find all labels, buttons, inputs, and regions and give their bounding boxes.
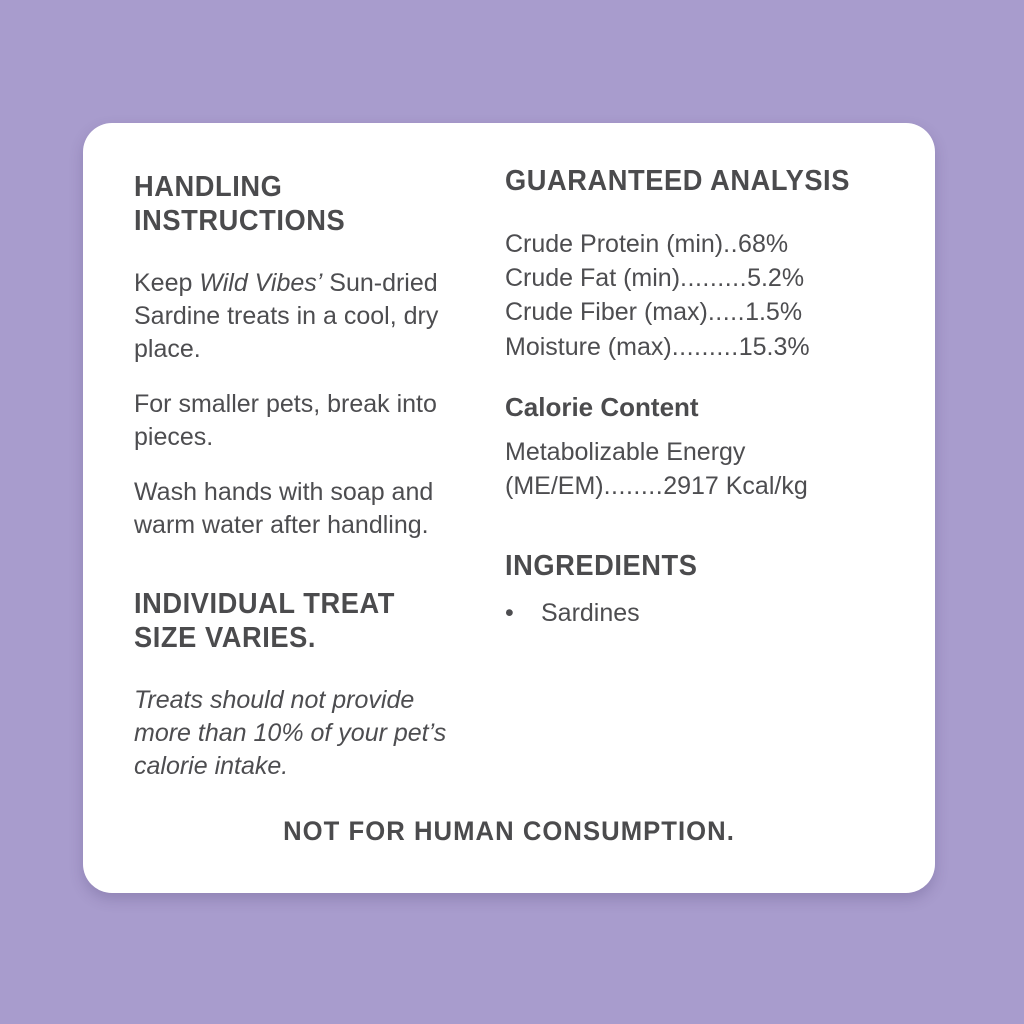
bullet-icon: •	[505, 596, 541, 631]
list-item: • Sardines	[505, 596, 933, 631]
calorie-line-value: (ME/EM)........2917 Kcal/kg	[505, 469, 933, 503]
spacer	[505, 364, 933, 392]
analysis-row: Crude Fiber (max).....1.5%	[505, 295, 933, 329]
analysis-leader: .........	[672, 333, 739, 361]
calorie-line-metabolizable-energy: Metabolizable Energy	[505, 435, 933, 469]
spacer	[134, 454, 463, 476]
spacer	[505, 504, 933, 550]
spacer	[505, 199, 933, 227]
calorie-value-leader: ........	[604, 472, 664, 500]
analysis-leader: ..	[723, 230, 738, 258]
analysis-value: 5.2%	[747, 264, 804, 292]
spacer	[505, 584, 933, 596]
spacer	[134, 366, 463, 388]
spacer	[134, 542, 463, 588]
treat-size-heading: Individual Treat Size Varies.	[134, 588, 443, 656]
analysis-row: Moisture (max).........15.3%	[505, 330, 933, 364]
handling-instructions-heading: Handling Instructions	[134, 171, 443, 239]
spacer	[134, 239, 463, 267]
guaranteed-analysis-list: Crude Protein (min)..68% Crude Fat (min)…	[505, 227, 933, 364]
handling-paragraph-wash-hands: Wash hands with soap and warm water afte…	[134, 476, 463, 542]
ingredient-name: Sardines	[541, 596, 640, 631]
calorie-value-amount: 2917 Kcal/kg	[663, 472, 808, 500]
analysis-leader: .........	[680, 264, 747, 292]
not-for-human-consumption-warning: Not for human consumption.	[104, 816, 913, 847]
label-columns: Handling Instructions Keep Wild Vibes’ S…	[83, 123, 935, 783]
analysis-leader: .....	[708, 298, 745, 326]
left-column: Handling Instructions Keep Wild Vibes’ S…	[83, 123, 463, 783]
calorie-content-heading: Calorie Content	[505, 392, 933, 423]
analysis-label: Crude Fiber (max)	[505, 298, 708, 326]
guaranteed-analysis-heading: Guaranteed Analysis	[505, 165, 907, 199]
nutrition-label-card: Handling Instructions Keep Wild Vibes’ S…	[83, 123, 935, 893]
spacer	[134, 656, 463, 684]
analysis-row: Crude Fat (min).........5.2%	[505, 261, 933, 295]
analysis-label: Crude Protein (min)	[505, 230, 723, 258]
analysis-value: 1.5%	[745, 298, 802, 326]
spacer	[505, 423, 933, 435]
handling-text-before-brand: Keep	[134, 269, 199, 297]
handling-paragraph-storage: Keep Wild Vibes’ Sun-dried Sardine treat…	[134, 267, 463, 366]
analysis-row: Crude Protein (min)..68%	[505, 227, 933, 261]
ingredients-list: • Sardines	[505, 596, 933, 631]
analysis-label: Moisture (max)	[505, 333, 672, 361]
brand-name-italic: Wild Vibes’	[199, 269, 322, 297]
ingredients-heading: Ingredients	[505, 550, 907, 584]
analysis-value: 68%	[738, 230, 788, 258]
treat-size-note: Treats should not provide more than 10% …	[134, 684, 463, 783]
handling-paragraph-small-pets: For smaller pets, break into pieces.	[134, 388, 463, 454]
calorie-content-lines: Metabolizable Energy (ME/EM)........2917…	[505, 435, 933, 504]
analysis-value: 15.3%	[739, 333, 810, 361]
calorie-value-label: (ME/EM)	[505, 472, 604, 500]
right-column: Guaranteed Analysis Crude Protein (min).…	[463, 123, 933, 783]
analysis-label: Crude Fat (min)	[505, 264, 680, 292]
